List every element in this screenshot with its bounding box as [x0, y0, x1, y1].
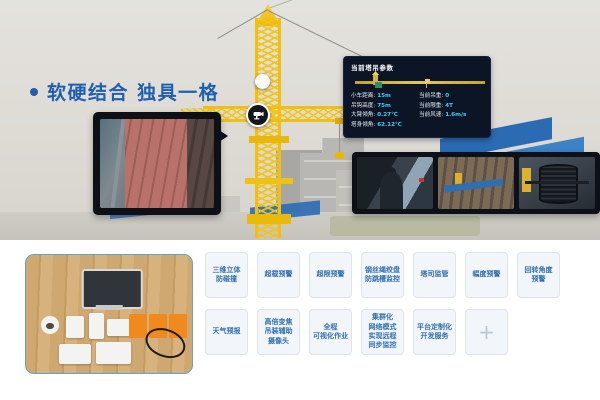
cctv-camera-icon[interactable] — [246, 103, 270, 127]
feature-tag[interactable]: 回转角度预警 — [517, 252, 560, 298]
parameter-value: 62.12℃ — [377, 122, 401, 128]
crane-base — [247, 214, 291, 224]
cctv-camera-glyph — [253, 111, 264, 120]
operator-cabin-feed[interactable] — [357, 157, 433, 209]
aerial-site-feed[interactable] — [438, 157, 514, 209]
feature-tag[interactable]: 三维立体防碰撞 — [205, 252, 248, 298]
add-feature-button[interactable]: + — [465, 309, 508, 355]
crane-hook — [335, 152, 344, 159]
panel-title: 当前塔吊参数 — [351, 62, 483, 72]
parameter-row: 吊钩高度: 75m — [351, 101, 415, 109]
parameter-row: 当前风速: 1.6m/s — [419, 110, 483, 118]
parameter-row: 塔身倾角: 62.12℃ — [351, 120, 415, 128]
crane-mast-leg — [278, 18, 281, 238]
feature-tag[interactable]: 超载预警 — [257, 252, 300, 298]
parameter-label: 当前吊重: — [419, 91, 443, 99]
parameter-row: 小车距离: 15m — [351, 91, 415, 99]
parameter-grid: 小车距离: 15m 当前吊重: 0 吊钩高度: 75m 当前限重: 4T 大臂倾… — [351, 91, 483, 128]
bottom-section: 三维立体防碰撞 超载预警 超限预警 钢丝绳绞盘防跳槽监控 塔司监管 幅度预警 回… — [0, 240, 600, 400]
slide-title: 软硬结合 独具一格 — [30, 78, 219, 105]
hardware-kit-photo — [25, 254, 193, 374]
parameter-label: 小车距离: — [351, 91, 375, 99]
popup-tail — [219, 130, 228, 142]
feature-tag-row: 三维立体防碰撞 超载预警 超限预警 钢丝绳绞盘防跳槽监控 塔司监管 幅度预警 回… — [205, 252, 590, 298]
crane-schematic-icon — [351, 74, 483, 88]
construction-scene: 软硬结合 独具一格 当前塔吊参数 — [0, 0, 600, 240]
feature-tag[interactable]: 集群化网络模式实现远程同步监控 — [361, 309, 404, 355]
parameter-value: 0 — [445, 93, 449, 99]
feature-tag[interactable]: 超限预警 — [309, 252, 352, 298]
parameter-row: 大臂倾角: 0.27℃ — [351, 110, 415, 118]
aerial-monitor-popup — [93, 112, 221, 215]
crane-platform — [249, 136, 289, 143]
parameter-row: 当前限重: 4T — [419, 101, 483, 109]
parameter-label: 当前风速: — [419, 110, 443, 118]
crane-platform — [245, 178, 293, 184]
parameter-value: 75m — [377, 103, 391, 109]
sensor-device — [89, 313, 104, 339]
bullet-dot-icon — [30, 88, 38, 96]
aerial-rooftop-view — [100, 119, 214, 208]
parameter-row: 当前吊重: 0 — [419, 91, 483, 99]
feature-tag[interactable]: 塔司监管 — [413, 252, 456, 298]
parameter-value: 15m — [377, 93, 391, 99]
page-title: 软硬结合 独具一格 — [47, 78, 219, 105]
parameter-value: 0.27℃ — [377, 112, 398, 118]
feature-tag[interactable]: 平台定制化开发服务 — [413, 309, 456, 355]
feature-tag[interactable]: 全程可视化作业 — [309, 309, 352, 355]
crane-hoist-line — [339, 124, 340, 154]
slide-root: 软硬结合 独具一格 当前塔吊参数 — [0, 0, 600, 400]
camera-feed-strip — [352, 152, 600, 214]
sensor-device — [66, 316, 84, 337]
tablet-device — [82, 269, 142, 308]
parameter-value: 1.6m/s — [445, 112, 466, 118]
feature-tag-row: 天气预报 高倍变焦吊装辅助摄像头 全程可视化作业 集群化网络模式实现远程同步监控… — [205, 309, 590, 355]
parameter-label: 塔身倾角: — [351, 120, 375, 128]
cctv-camera-icon[interactable] — [255, 74, 270, 89]
tablet-stand — [96, 305, 123, 311]
crane-tie-cable — [268, 0, 409, 9]
winch-drum-feed[interactable] — [519, 157, 595, 209]
feature-tag[interactable]: 高倍变焦吊装辅助摄像头 — [257, 309, 300, 355]
feature-tag[interactable]: 幅度预警 — [465, 252, 508, 298]
controller-box — [96, 342, 131, 363]
parameter-value: 4T — [445, 103, 453, 109]
crane-parameter-panel: 当前塔吊参数 小车距离: 15m 当前吊重: 0 吊钩高度: — [343, 56, 491, 138]
feature-tag[interactable]: 天气预报 — [205, 309, 248, 355]
feature-tag-grid: 三维立体防碰撞 超载预警 超限预警 钢丝绳绞盘防跳槽监控 塔司监管 幅度预警 回… — [205, 252, 590, 366]
limit-switch-device — [129, 314, 147, 338]
feature-tag[interactable]: 钢丝绳绞盘防跳槽监控 — [361, 252, 404, 298]
controller-box — [59, 344, 91, 364]
crane-mast-leg — [255, 18, 258, 238]
parameter-label: 当前限重: — [419, 101, 443, 109]
parameter-label: 吊钩高度: — [351, 101, 375, 109]
parameter-label: 大臂倾角: — [351, 110, 375, 118]
